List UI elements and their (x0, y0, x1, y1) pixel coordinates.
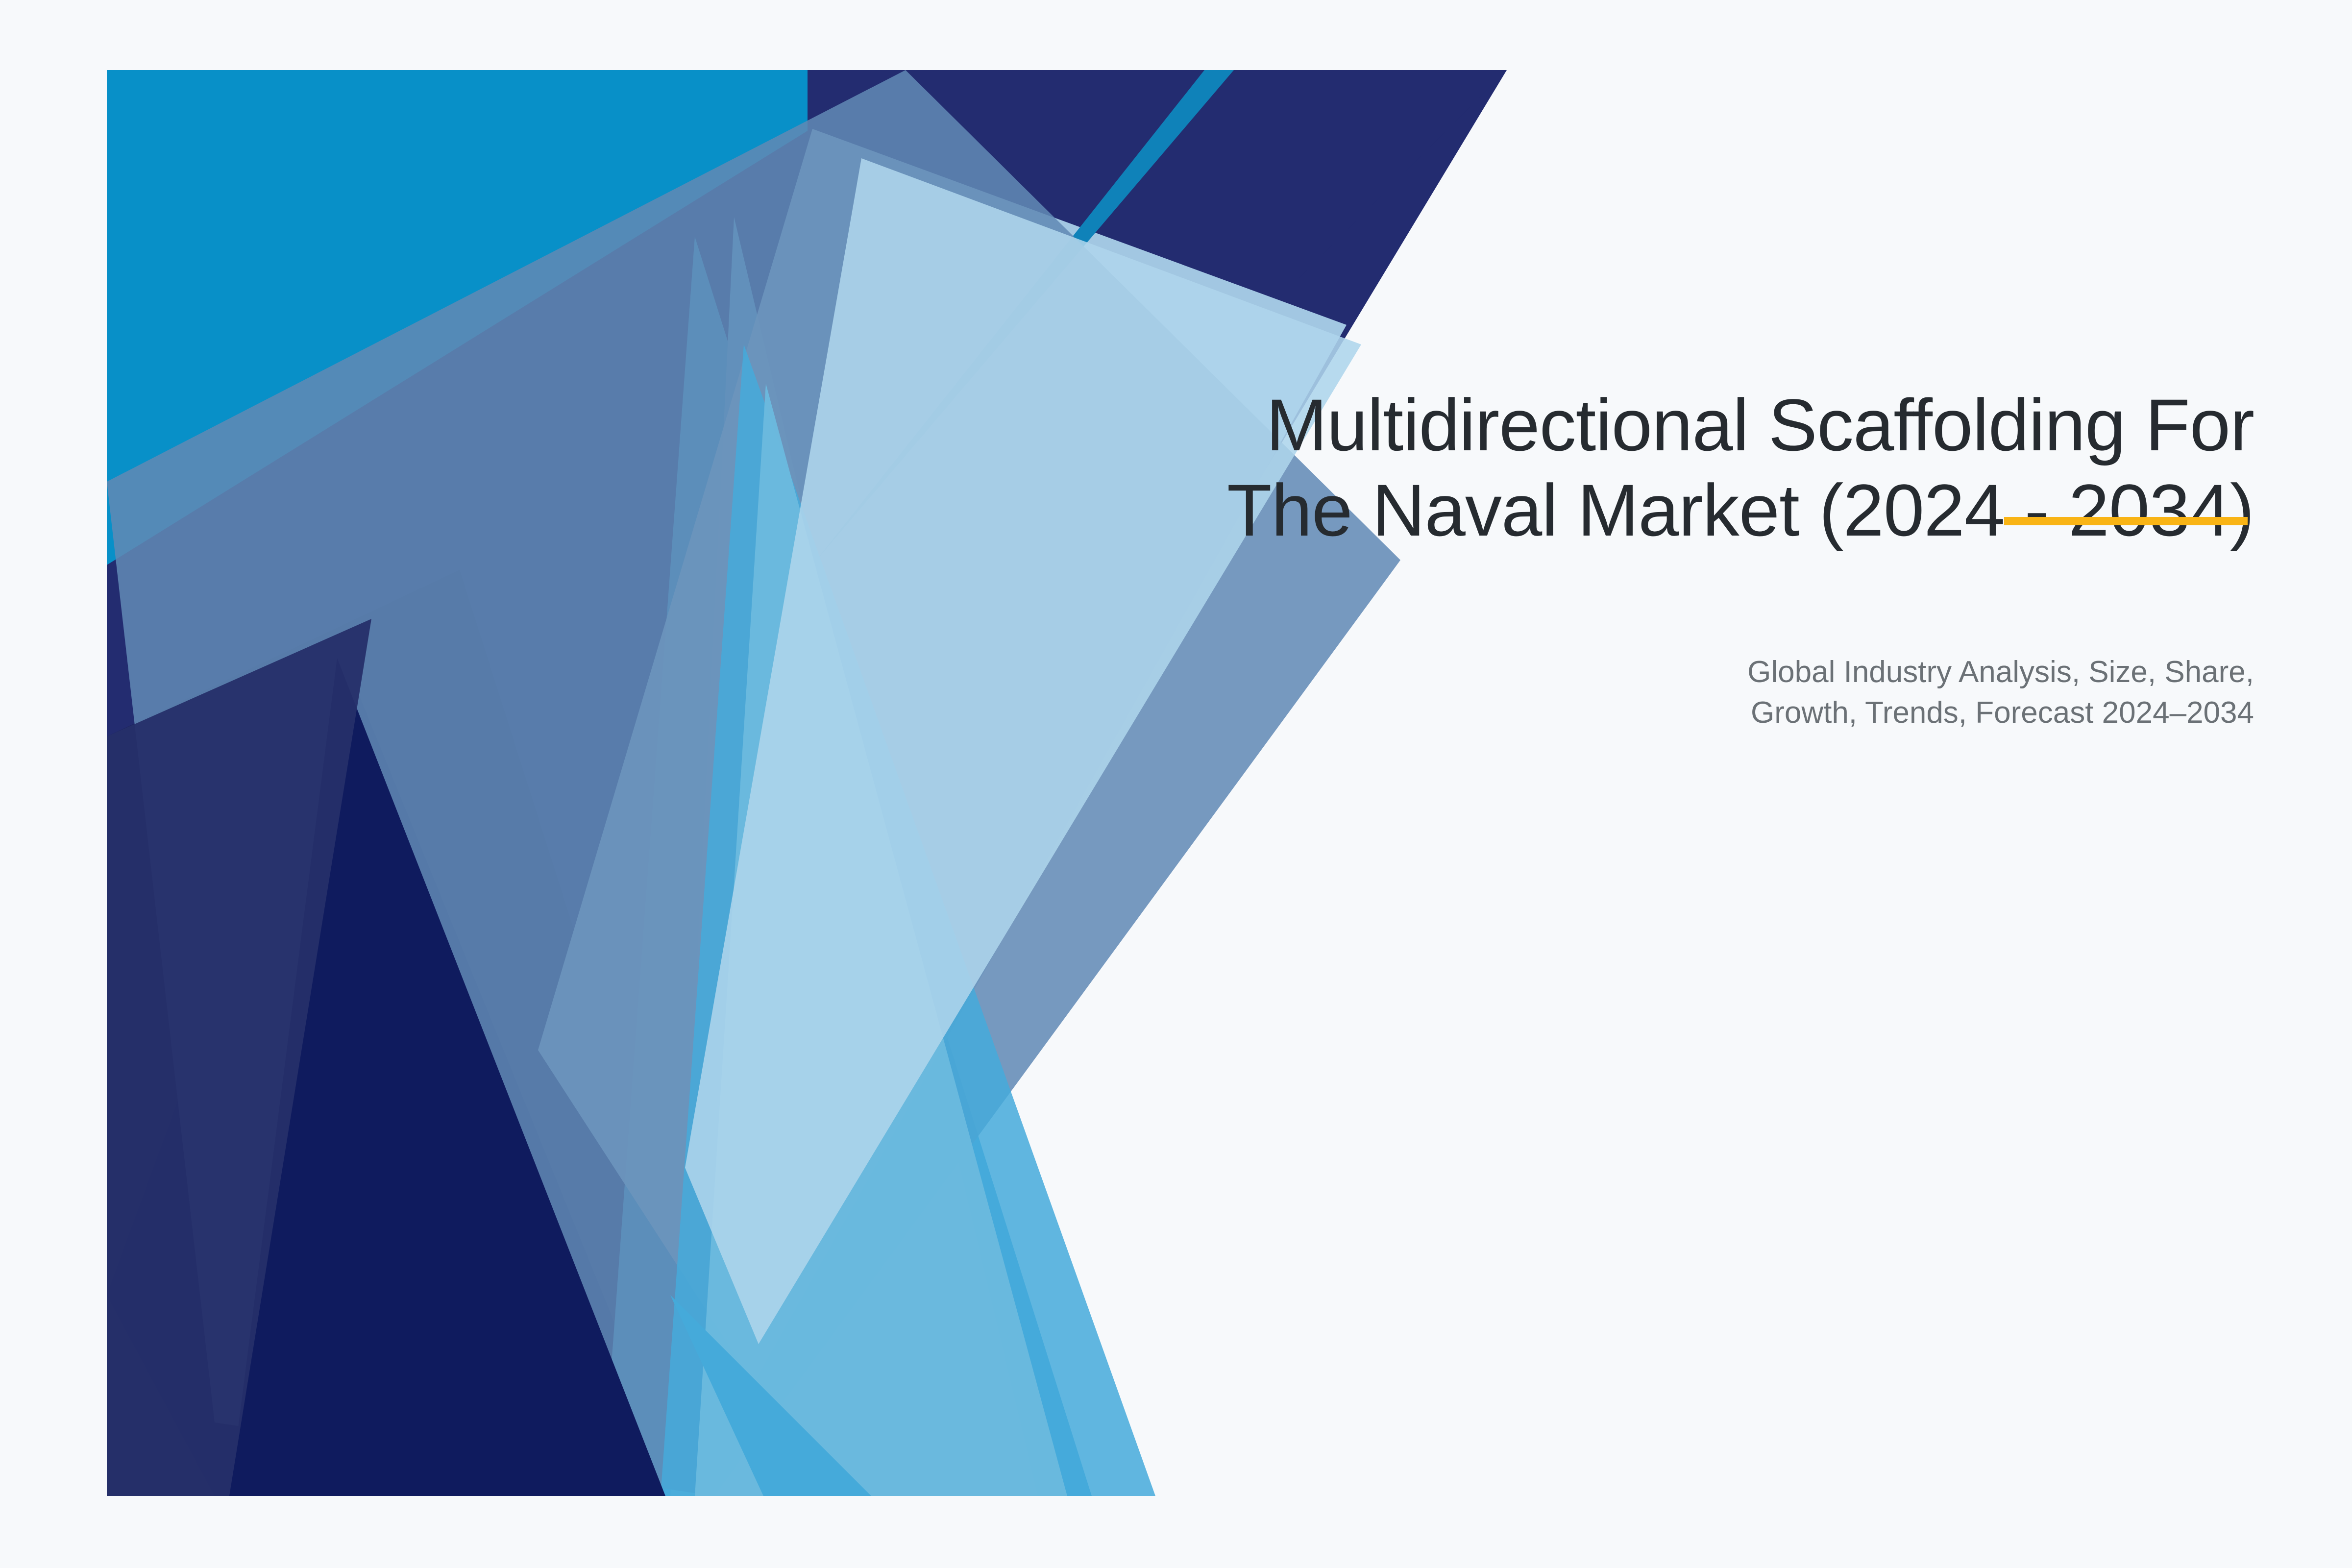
cover-page: Multidirectional Scaffolding For The Nav… (0, 0, 2352, 1568)
subtitle-block: Global Industry Analysis, Size, Share, G… (1323, 652, 2254, 733)
decorative-graphic-svg (107, 70, 1507, 1496)
page-title: Multidirectional Scaffolding For The Nav… (1068, 382, 2254, 553)
page-subtitle: Global Industry Analysis, Size, Share, G… (1323, 652, 2254, 733)
title-accent-bar (2004, 517, 2248, 525)
decorative-graphic-panel (107, 70, 1507, 1496)
title-block: Multidirectional Scaffolding For The Nav… (1068, 382, 2254, 553)
